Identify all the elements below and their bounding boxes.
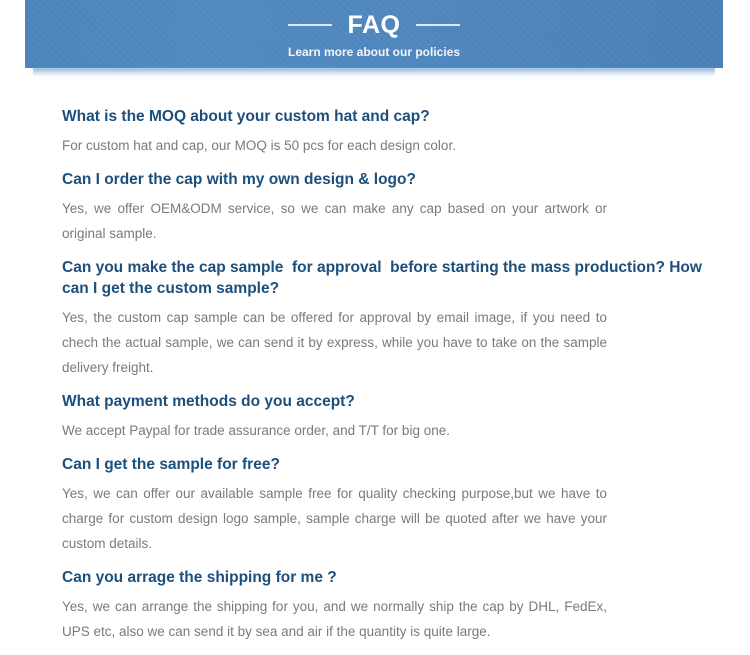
faq-answer: For custom hat and cap, our MOQ is 50 pc… xyxy=(62,133,607,158)
faq-list: What is the MOQ about your custom hat an… xyxy=(62,106,710,655)
page-subtitle: Learn more about our policies xyxy=(288,44,460,60)
faq-item: What payment methods do you accept? We a… xyxy=(62,391,710,443)
faq-item: Can you arrage the shipping for me ? Yes… xyxy=(62,567,710,644)
faq-question: Can I order the cap with my own design &… xyxy=(62,169,710,190)
faq-item: Can I get the sample for free? Yes, we c… xyxy=(62,454,710,556)
faq-question: Can you arrage the shipping for me ? xyxy=(62,567,710,588)
faq-question: What payment methods do you accept? xyxy=(62,391,710,412)
faq-answer: We accept Paypal for trade assurance ord… xyxy=(62,418,607,443)
faq-answer: Yes, we can arrange the shipping for you… xyxy=(62,594,607,644)
faq-question: Can you make the cap sample for approval… xyxy=(62,257,710,299)
page-title: FAQ xyxy=(348,10,401,40)
faq-page: FAQ Learn more about our policies What i… xyxy=(0,0,750,644)
faq-item: Can you make the cap sample for approval… xyxy=(62,257,710,380)
faq-item: What is the MOQ about your custom hat an… xyxy=(62,106,710,158)
faq-answer: Yes, the custom cap sample can be offere… xyxy=(62,305,607,380)
banner-background: FAQ Learn more about our policies xyxy=(25,0,723,68)
faq-answer: Yes, we offer OEM&ODM service, so we can… xyxy=(62,196,607,246)
decorative-line-left-icon xyxy=(288,24,332,26)
faq-question: What is the MOQ about your custom hat an… xyxy=(62,106,710,127)
faq-question: Can I get the sample for free? xyxy=(62,454,710,475)
faq-banner: FAQ Learn more about our policies xyxy=(25,0,723,80)
banner-title-row: FAQ xyxy=(288,8,461,42)
faq-answer: Yes, we can offer our available sample f… xyxy=(62,481,607,556)
decorative-line-right-icon xyxy=(416,24,460,26)
faq-item: Can I order the cap with my own design &… xyxy=(62,169,710,246)
banner-reflection xyxy=(33,68,715,79)
